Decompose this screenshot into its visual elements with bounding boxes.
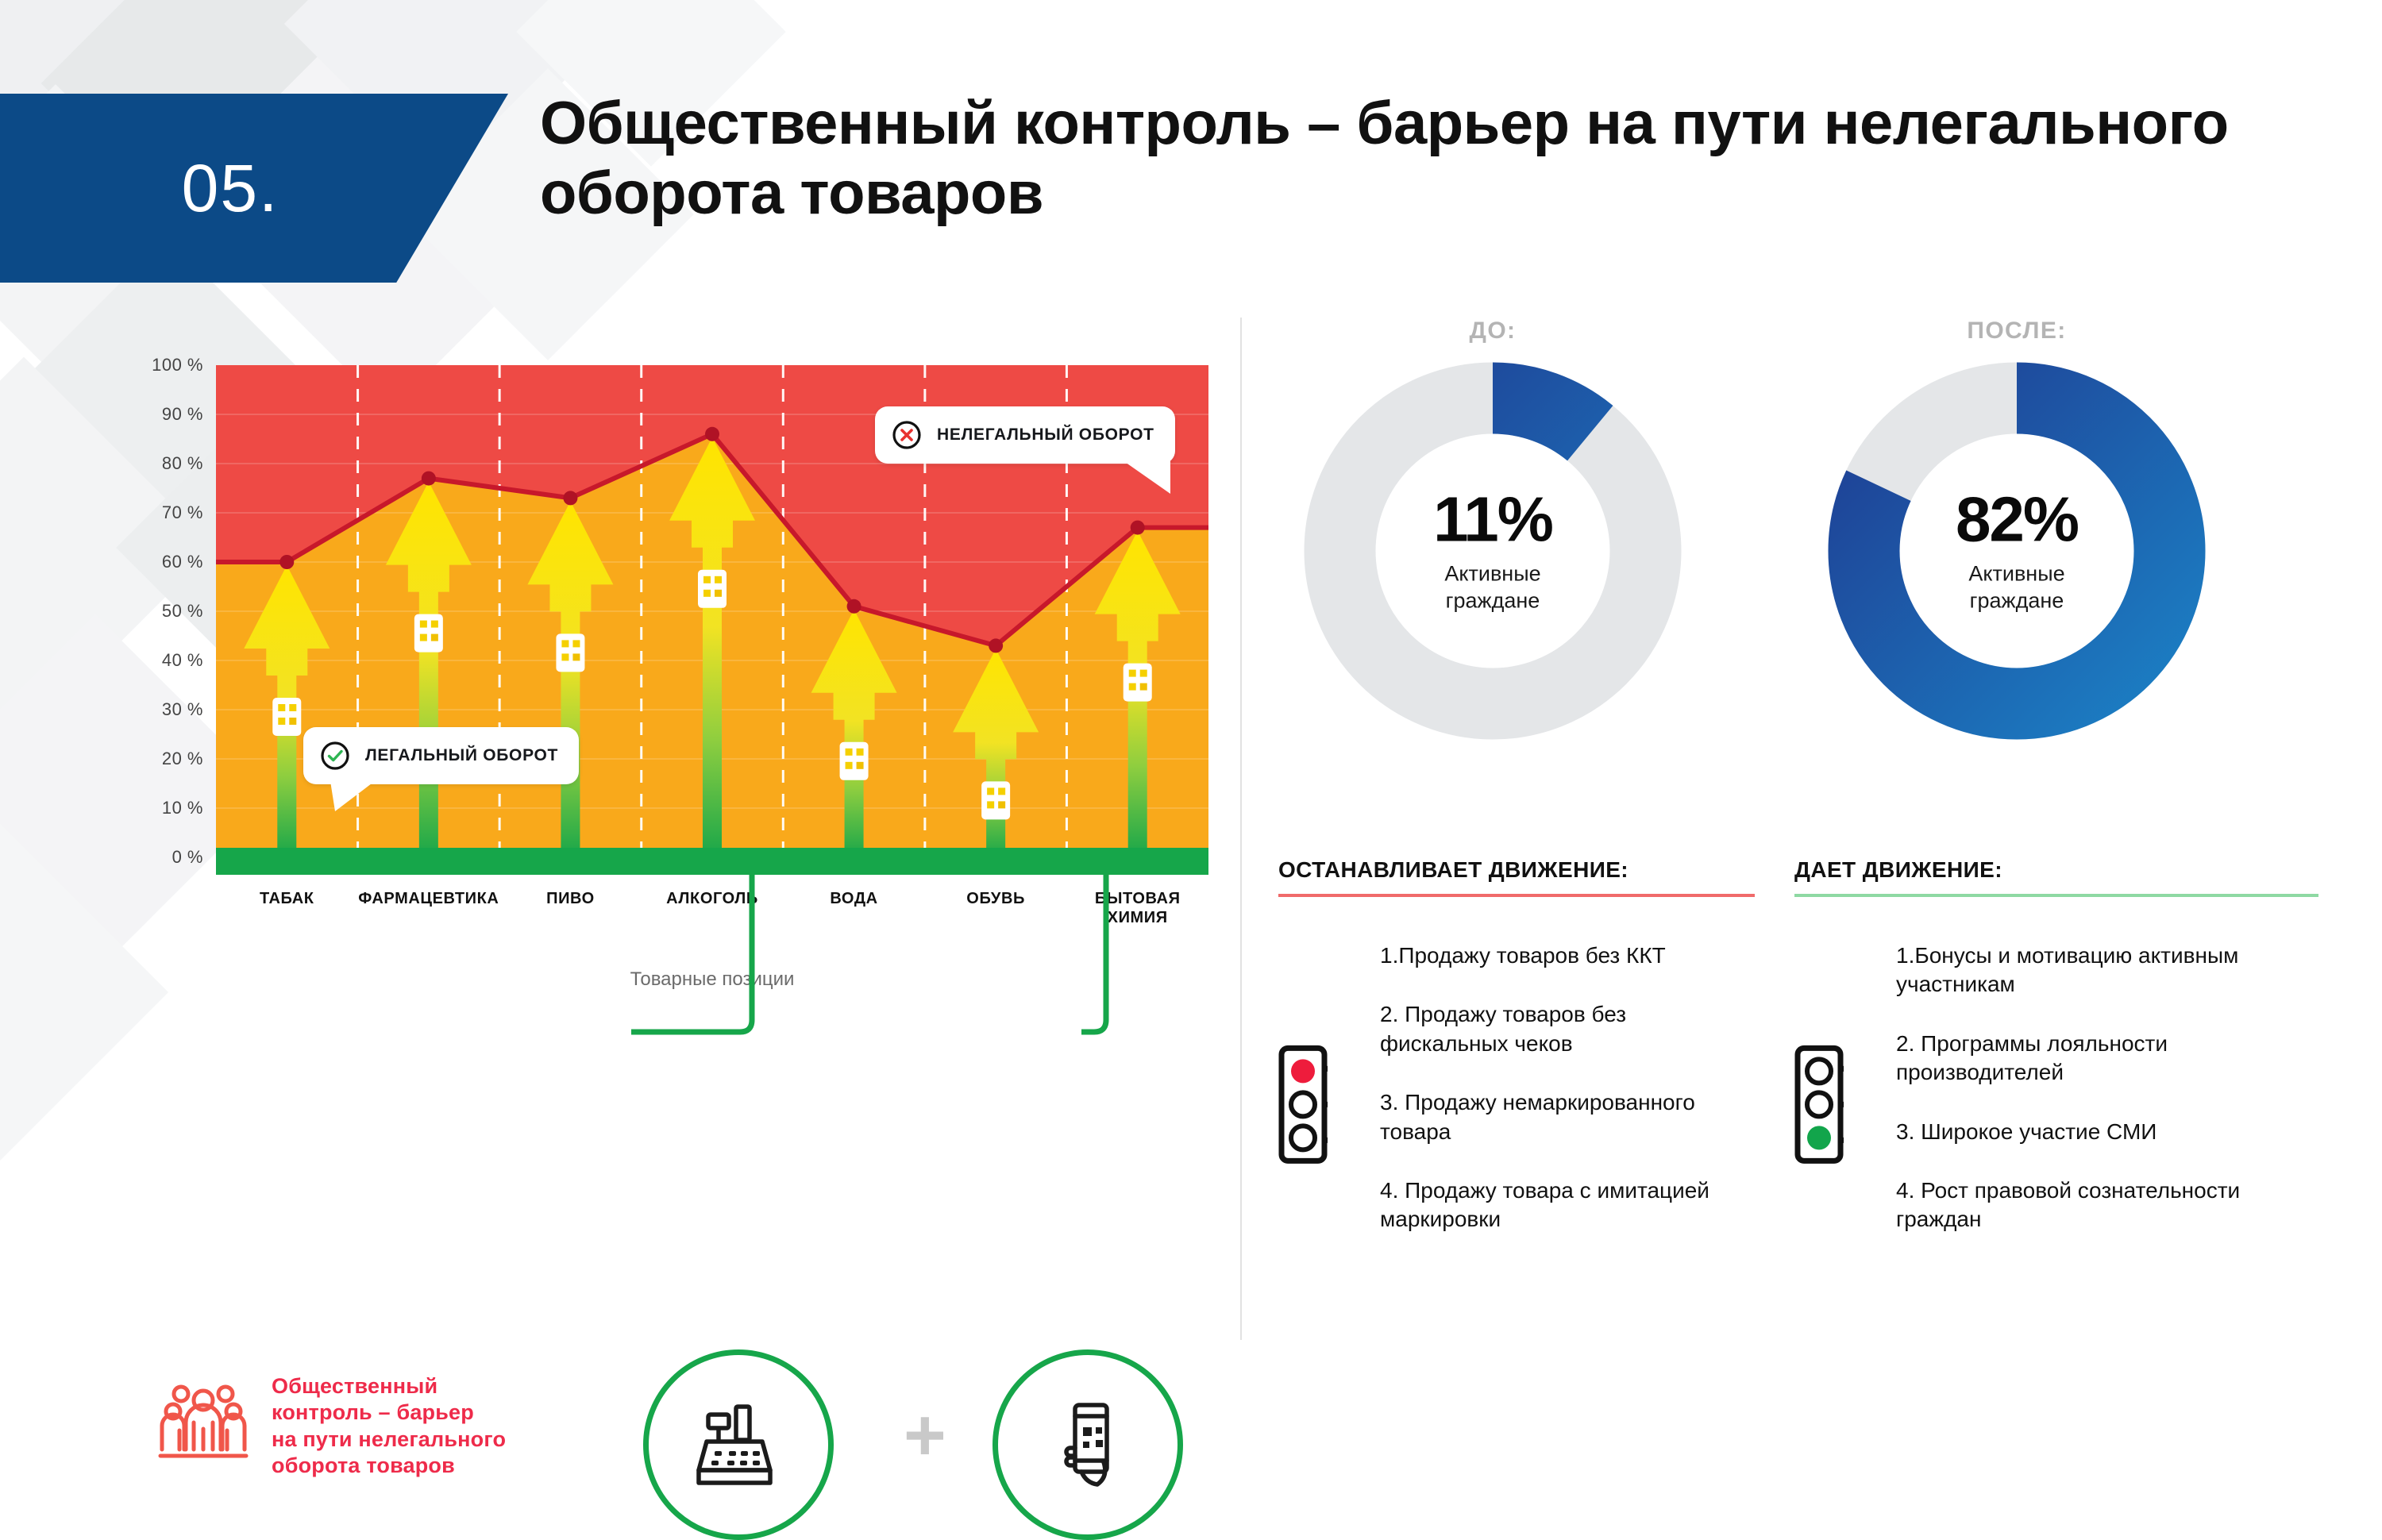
y-axis: 100 %90 %80 %70 %60 %50 %40 %30 %20 %10 … <box>127 365 214 857</box>
traffic-light-green-icon <box>1794 945 1844 1265</box>
slide-number-badge: 05. <box>0 94 508 283</box>
x-axis-label: ТАБАК <box>260 889 314 908</box>
plus-icon: + <box>904 1399 946 1472</box>
y-tick-label: 90 % <box>162 404 203 425</box>
legend-illegal-label: НЕЛЕГАЛЬНЫЙ ОБОРОТ <box>937 425 1154 445</box>
list-item: 3. Продажу немаркированного товара <box>1380 1088 1755 1146</box>
stops-movement-rule <box>1278 894 1755 897</box>
panel-divider <box>1240 318 1242 1340</box>
people-group-icon <box>156 1373 251 1469</box>
turnover-chart: 100 %90 %80 %70 %60 %50 %40 %30 %20 %10 … <box>127 365 1215 921</box>
list-item: 2. Программы лояльности производителей <box>1896 1030 2318 1088</box>
y-tick-label: 50 % <box>162 601 203 622</box>
brand-logo: Общественный контроль – барьер на пути н… <box>156 1373 506 1480</box>
y-tick-label: 80 % <box>162 453 203 474</box>
y-tick-label: 20 % <box>162 749 203 769</box>
donut-after-percent: 82% <box>1898 487 2136 551</box>
chart-baseline-bar <box>216 848 1208 875</box>
mobile-scan-circle <box>992 1349 1183 1540</box>
list-item: 2. Продажу товаров без фискальных чеков <box>1380 1000 1755 1058</box>
check-circle-icon <box>319 740 351 772</box>
y-tick-label: 30 % <box>162 699 203 720</box>
donut-after: ПОСЛЕ: 82% Активные граждане <box>1794 318 2239 749</box>
stops-movement-column: ОСТАНАВЛИВАЕТ ДВИЖЕНИЕ: 1.Продажу товаро… <box>1278 857 1755 1265</box>
x-axis-labels: ТАБАКФАРМАЦЕВТИКАПИВОАЛКОГОЛЬВОДАОБУВЬБЫ… <box>216 889 1208 961</box>
x-axis-label: БЫТОВАЯ ХИМИЯ <box>1095 889 1181 927</box>
x-axis-label: ОБУВЬ <box>966 889 1025 908</box>
data-point <box>279 555 294 569</box>
traffic-light-red-icon <box>1278 945 1328 1265</box>
qr-badge-icon <box>981 781 1010 819</box>
donut-after-sublabel: Активные граждане <box>1898 560 2136 614</box>
qr-badge-icon <box>556 633 584 672</box>
metrics-panel: ДО: 11% Активные граждане ПОСЛЕ: <box>1270 318 2382 1340</box>
gives-movement-items: 1.Бонусы и мотивацию активным участникам… <box>1864 941 2318 1265</box>
cash-register-icon <box>691 1397 786 1492</box>
data-point <box>563 491 577 505</box>
donut-after-caption: ПОСЛЕ: <box>1794 318 2239 345</box>
list-item: 4. Продажу товара с имитацией маркировки <box>1380 1176 1755 1234</box>
x-axis-title: Товарные позиции <box>216 968 1208 991</box>
data-point <box>989 638 1003 653</box>
y-tick-label: 10 % <box>162 798 203 818</box>
chart-panel: 100 %90 %80 %70 %60 %50 %40 %30 %20 %10 … <box>0 318 1239 1340</box>
callout-tail <box>1118 460 1170 495</box>
qr-badge-icon <box>272 698 301 736</box>
x-axis-label: АЛКОГОЛЬ <box>666 889 758 908</box>
data-point <box>847 599 861 614</box>
x-axis-label: ФАРМАЦЕВТИКА <box>358 889 499 908</box>
legend-illegal-callout: НЕЛЕГАЛЬНЫЙ ОБОРОТ <box>875 406 1175 464</box>
qr-badge-icon <box>840 742 869 780</box>
slide-number-label: 05. <box>182 150 279 227</box>
hand-holding-phone-icon <box>1040 1397 1135 1492</box>
qr-badge-icon <box>1124 664 1152 702</box>
qr-badge-icon <box>414 614 443 653</box>
list-item: 1.Продажу товаров без ККТ <box>1380 941 1755 970</box>
qr-badge-icon <box>698 570 727 608</box>
y-tick-label: 0 % <box>172 847 203 868</box>
gives-movement-heading: ДАЕТ ДВИЖЕНИЕ: <box>1794 857 2318 883</box>
y-tick-label: 100 % <box>152 355 203 375</box>
donut-before-percent: 11% <box>1374 487 1612 551</box>
donut-before-caption: ДО: <box>1270 318 1715 345</box>
slide-header: 05. Общественный контроль – барьер на пу… <box>0 94 2382 284</box>
legend-legal-callout: ЛЕГАЛЬНЫЙ ОБОРОТ <box>303 727 579 784</box>
page-title: Общественный контроль – барьер на пути н… <box>540 89 2287 229</box>
list-item: 4. Рост правовой сознательности граждан <box>1896 1176 2318 1234</box>
donut-before-sublabel: Активные граждане <box>1374 560 1612 614</box>
x-axis-label: ВОДА <box>830 889 877 908</box>
legend-legal-label: ЛЕГАЛЬНЫЙ ОБОРОТ <box>365 746 558 765</box>
data-point <box>705 427 719 441</box>
x-axis-label: ПИВО <box>546 889 595 908</box>
list-item: 3. Широкое участие СМИ <box>1896 1118 2318 1146</box>
y-tick-label: 70 % <box>162 502 203 523</box>
stops-movement-heading: ОСТАНАВЛИВАЕТ ДВИЖЕНИЕ: <box>1278 857 1755 883</box>
data-point <box>1131 521 1145 535</box>
list-item: 1.Бонусы и мотивацию активным участникам <box>1896 941 2318 999</box>
data-point <box>422 472 436 486</box>
cash-register-circle <box>643 1349 834 1540</box>
gives-movement-rule <box>1794 894 2318 897</box>
y-tick-label: 60 % <box>162 552 203 572</box>
gives-movement-column: ДАЕТ ДВИЖЕНИЕ: 1.Бонусы и мотивацию акти… <box>1794 857 2318 1265</box>
y-tick-label: 40 % <box>162 650 203 671</box>
stops-movement-items: 1.Продажу товаров без ККТ2. Продажу това… <box>1348 941 1755 1265</box>
cross-circle-icon <box>891 419 923 451</box>
donut-before: ДО: 11% Активные граждане <box>1270 318 1715 749</box>
brand-text: Общественный контроль – барьер на пути н… <box>272 1373 506 1480</box>
callout-tail <box>330 781 378 813</box>
